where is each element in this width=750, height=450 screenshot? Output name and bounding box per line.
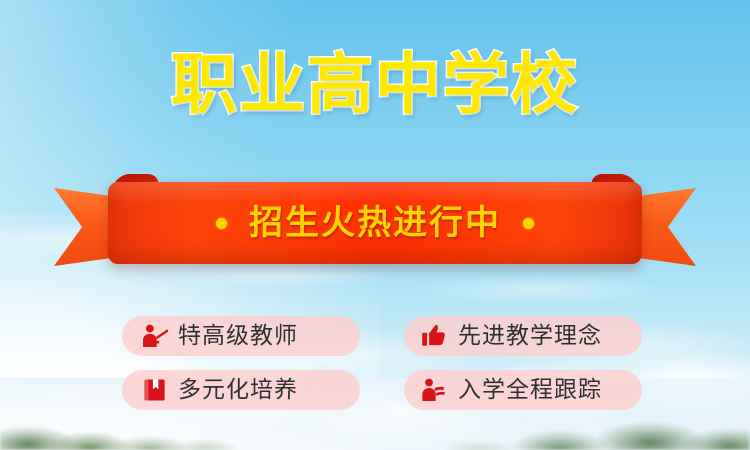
feature-label: 多元化培养: [178, 379, 298, 402]
ribbon-body: 招生火热进行中: [108, 182, 642, 264]
ribbon-headline: 招生火热进行中: [249, 206, 501, 240]
feature-pill-diversified-training[interactable]: 多元化培养: [122, 370, 360, 410]
thumbs-up-icon: [420, 322, 448, 350]
promo-banner: 职业高中学校 招生火热进行中: [0, 0, 750, 450]
page-title: 职业高中学校: [171, 52, 579, 118]
dot-marker-right: [523, 218, 534, 229]
feature-pill-teacher[interactable]: 特高级教师: [122, 316, 360, 356]
feature-label: 特高级教师: [178, 325, 298, 348]
person-reading-icon: [420, 376, 448, 404]
feature-pill-teaching-philosophy[interactable]: 先进教学理念: [404, 316, 642, 356]
feature-label: 先进教学理念: [458, 325, 602, 348]
dot-marker-left: [216, 218, 227, 229]
feature-label: 入学全程跟踪: [458, 379, 602, 402]
book-bookmark-icon: [140, 376, 168, 404]
feature-list: 特高级教师 先进教学理念 多元化培养: [122, 316, 642, 410]
title-container: 职业高中学校: [0, 52, 750, 118]
ribbon-banner: 招生火热进行中: [108, 182, 642, 264]
teacher-pointer-icon: [140, 322, 168, 350]
feature-pill-enrollment-tracking[interactable]: 入学全程跟踪: [404, 370, 642, 410]
